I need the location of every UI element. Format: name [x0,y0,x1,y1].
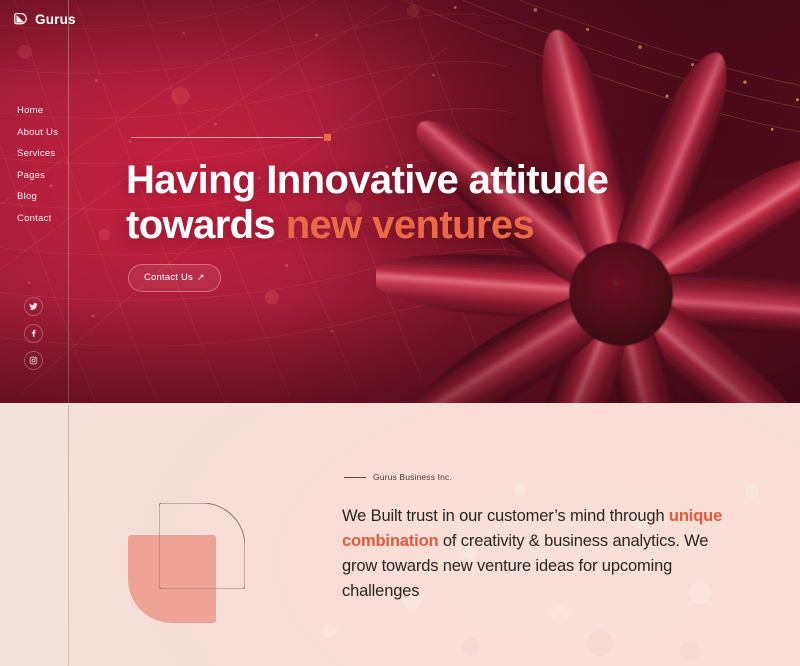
twitter-icon[interactable] [24,297,43,316]
quarter-circle-shapes [128,503,288,621]
lower-left-gutter [0,403,69,666]
contact-us-button[interactable]: Contact Us ↗ [128,264,221,292]
social-links [24,297,43,370]
intro-part-1: We Built trust in our customer’s mind th… [342,507,669,525]
nav-item-pages[interactable]: Pages [17,170,58,181]
eyebrow-dash-icon [344,477,366,478]
nav-item-about-us[interactable]: About Us [17,127,58,138]
page-title: Having Innovative attitude towards new v… [126,158,608,248]
logo-text: Gurus [35,12,76,27]
outlined-quarter-circle [159,503,245,589]
nav-item-home[interactable]: Home [17,105,58,116]
hero-section: Having Innovative attitude towards new v… [0,0,800,403]
headline-line-2-plain: towards [126,203,286,247]
instagram-icon[interactable] [24,351,43,370]
leaf-mark-icon [12,11,29,28]
headline-line-1: Having Innovative attitude [126,158,608,202]
section-eyebrow: Gurus Business Inc. [344,472,452,482]
logo[interactable]: Gurus [12,11,76,28]
rule-line [131,137,323,138]
headline-line-2-accent: new ventures [286,203,534,247]
rule-accent-square [324,134,331,141]
contact-us-label: Contact Us [144,272,193,283]
nav-item-services[interactable]: Services [17,148,58,159]
eyebrow-label: Gurus Business Inc. [373,472,452,482]
facebook-icon[interactable] [24,324,43,343]
nav-item-blog[interactable]: Blog [17,191,58,202]
vertical-divider [68,0,69,666]
arrow-up-right-icon: ↗ [197,273,205,282]
nav-item-contact[interactable]: Contact [17,213,58,224]
main-nav: Home About Us Services Pages Blog Contac… [17,105,58,224]
landing-page: Having Innovative attitude towards new v… [0,0,800,666]
headline-rule [131,134,331,142]
intro-paragraph: We Built trust in our customer’s mind th… [342,504,724,604]
